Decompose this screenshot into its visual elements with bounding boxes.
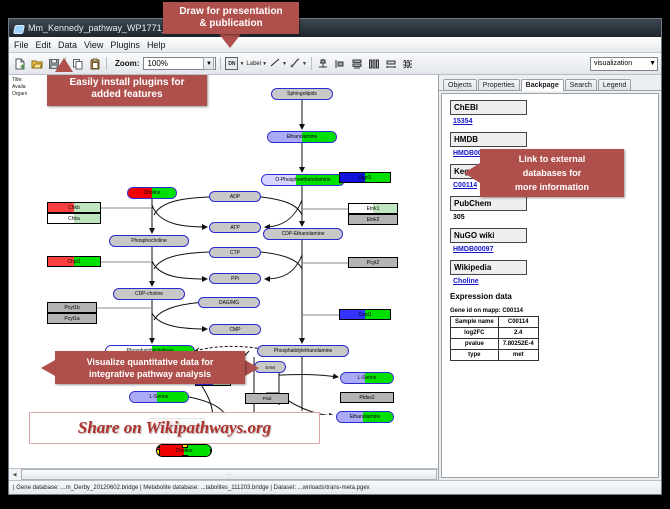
expression-table: Sample nameC00114log2FC2.4pvalue7.80252E… [450, 316, 539, 361]
selection-handle[interactable] [156, 455, 160, 457]
node-label: PPi [231, 276, 239, 282]
table-cell: log2FC [451, 328, 499, 339]
menu-edit[interactable]: Edit [36, 40, 52, 50]
pathway-canvas[interactable]: Title: Availa Organi [9, 75, 438, 468]
section-header-pubchem: PubChem [450, 196, 527, 211]
callout-plugins-line2: added features [91, 89, 162, 101]
menu-plugins[interactable]: Plugins [110, 40, 140, 50]
metabolite-node[interactable]: PPi [209, 273, 261, 284]
chevron-down-icon[interactable]: ▼ [239, 61, 244, 67]
metabolite-node[interactable]: CTP [209, 247, 261, 258]
callout-visualize: Visualize quantitative data for integrat… [55, 351, 245, 384]
visualization-combo[interactable]: visualization ▼ [590, 57, 658, 71]
label-tool[interactable]: Label ▼ [246, 61, 267, 67]
callout-links-line1: Link to external [519, 152, 586, 166]
node-label: Chka [68, 216, 80, 222]
gene-id-label: Gene id on mapp: C00114 [450, 308, 658, 314]
callout-visualize-line2: integrative pathway analysis [89, 368, 211, 380]
metabolite-node[interactable]: Phosphocholine [109, 235, 189, 247]
tab-legend[interactable]: Legend [598, 79, 631, 90]
zoom-label: Zoom: [115, 59, 139, 68]
chevron-down-icon[interactable]: ▼ [302, 61, 307, 67]
section-header-hmdb: HMDB [450, 132, 527, 147]
share-banner-text: Share on Wikipathways.org [78, 418, 271, 438]
selection-handle[interactable] [182, 444, 188, 448]
stack-vertical-icon[interactable] [350, 56, 365, 71]
share-banner: Share on Wikipathways.org [29, 412, 320, 444]
node-label: Ptdss2 [359, 395, 374, 401]
callout-visualize-tail-left [41, 360, 55, 376]
node-label: Ethanolamine [287, 134, 318, 140]
distribute-icon[interactable] [367, 56, 382, 71]
open-file-icon[interactable] [29, 56, 44, 71]
metabolite-node[interactable]: L-Serine [340, 372, 394, 384]
side-panel-tabs: Objects Properties Backpage Search Legen… [439, 75, 661, 91]
metabolite-node[interactable]: Ethanolamine [336, 411, 394, 423]
paste-icon[interactable] [87, 56, 102, 71]
node-label: L-Serine [358, 375, 377, 381]
tab-properties[interactable]: Properties [478, 79, 520, 90]
node-label: Sphingolipids [287, 91, 317, 97]
table-cell: C00114 [498, 317, 538, 328]
tool-bar: Zoom: 100% ▼ DN ▼ Label ▼ ▼ ▼ [9, 53, 661, 75]
callout-visualize-tail-right [245, 360, 259, 376]
gene-node[interactable]: Ptdss2 [340, 392, 394, 403]
gene-node[interactable]: Pcyt2 [348, 257, 398, 268]
tab-objects[interactable]: Objects [443, 79, 477, 90]
gene-node[interactable]: Etnk2 [348, 214, 398, 225]
callout-plugins: Easily install plugins for added feature… [47, 75, 207, 106]
chevron-down-icon[interactable]: ▼ [262, 61, 267, 67]
callout-links: Link to external databases for more info… [480, 149, 624, 197]
metabolite-node[interactable]: Choline [156, 444, 212, 457]
metabolite-node[interactable]: O-Phosphoethanolamine [261, 174, 345, 186]
app-icon [13, 23, 24, 34]
table-cell: met [498, 350, 538, 361]
selection-handle[interactable] [156, 449, 160, 455]
section-header-chebi: ChEBI [450, 100, 527, 115]
selection-handle[interactable] [210, 444, 212, 448]
node-label: Cept1 [358, 312, 371, 318]
node-label: Etnk2 [367, 217, 380, 223]
link-chebi[interactable]: 15354 [453, 118, 658, 125]
section-header-wikipedia: Wikipedia [450, 260, 527, 275]
node-label: CTP [230, 250, 240, 256]
node-label: CDP-choline [135, 291, 163, 297]
metabolite-node[interactable]: ADP [209, 191, 261, 202]
metabolite-node[interactable]: CDP-choline [113, 288, 185, 300]
section-header-nugo: NuGO wiki [450, 228, 527, 243]
link-nugo[interactable]: HMDB00097 [453, 246, 658, 253]
metabolite-node[interactable]: CMP [209, 324, 261, 335]
menu-bar: File Edit Data View Plugins Help [9, 37, 661, 53]
gene-node[interactable]: Pcyt1b [47, 302, 97, 313]
group-icon[interactable] [401, 56, 416, 71]
gene-node[interactable]: Cept1 [339, 309, 391, 320]
datanode-icon: DN [225, 57, 238, 70]
table-row: typemet [451, 350, 539, 361]
metabolite-node[interactable]: Ethanolamine [267, 131, 337, 143]
callout-plugins-tail [55, 58, 73, 72]
node-label: Pcyt1b [64, 305, 79, 311]
visualization-value: visualization [594, 60, 632, 67]
node-label: Pcyt2 [367, 260, 380, 266]
chevron-down-icon[interactable]: ▼ [203, 57, 214, 70]
gene-node[interactable]: Pcyt1a [47, 313, 97, 324]
toolbar-separator-3 [220, 57, 221, 70]
menu-file[interactable]: File [14, 40, 29, 50]
expression-data-title: Expression data [450, 292, 658, 301]
datanode-tool[interactable]: DN ▼ [225, 57, 244, 70]
table-row: pvalue7.80252E-4 [451, 339, 539, 350]
metabolite-node[interactable]: Sphingolipids [271, 88, 333, 100]
tab-backpage[interactable]: Backpage [521, 79, 564, 91]
selection-handle[interactable] [210, 449, 212, 455]
metabolite-node[interactable]: L-Serine [129, 391, 189, 403]
node-label: Sgpl1 [359, 175, 372, 181]
metabolite-node[interactable]: ATP [209, 222, 261, 233]
menu-help[interactable]: Help [147, 40, 166, 50]
metabolite-node[interactable]: Phosphatidylethanolamine [257, 345, 349, 357]
metabolite-node[interactable]: CDP-Ethanolamine [263, 228, 343, 240]
status-bar: | Gene database: ...m_Derby_20120602.bri… [9, 480, 661, 494]
toolbar-separator-4 [311, 57, 312, 70]
table-cell: 7.80252E-4 [498, 339, 538, 350]
selection-handle[interactable] [156, 444, 160, 448]
callout-draw-line2: & publication [199, 18, 262, 30]
zoom-combo[interactable]: 100% ▼ [143, 57, 216, 70]
callout-draw: Draw for presentation & publication [163, 2, 299, 34]
zoom-value: 100% [147, 59, 167, 68]
table-cell: 2.4 [498, 328, 538, 339]
menu-data[interactable]: Data [58, 40, 77, 50]
chevron-down-icon[interactable]: ▼ [282, 61, 287, 67]
node-label: Ethanolamine [350, 414, 381, 420]
node-label: Pisd [263, 396, 272, 401]
node-label: Choline [144, 190, 161, 196]
canvas-hscrollbar[interactable]: ◀ ⋯ [9, 468, 438, 480]
menu-view[interactable]: View [84, 40, 103, 50]
node-label: Chpt1 [67, 259, 80, 265]
hscroll-thumb[interactable]: ⋯ [21, 469, 437, 480]
gene-node[interactable]: Etnk1 [348, 203, 398, 214]
metabolite-node[interactable]: DAG/MG [198, 297, 260, 308]
callout-draw-line1: Draw for presentation [179, 6, 282, 18]
pathway-editor-pane: Title: Availa Organi [9, 75, 439, 480]
metabolite-node[interactable]: Choline [127, 187, 177, 199]
value-pubchem: 305 [453, 214, 658, 221]
gene-node[interactable]: Chkb [47, 202, 101, 213]
node-label: L-Serine [150, 394, 169, 400]
node-label: ATP [230, 225, 239, 231]
side-panel: Objects Properties Backpage Search Legen… [439, 75, 661, 480]
node-label: Etnk1 [367, 206, 380, 212]
table-cell: Sample name [451, 317, 499, 328]
tab-search[interactable]: Search [565, 79, 597, 90]
node-label: Phosphocholine [131, 238, 167, 244]
node-label: ADP [230, 194, 240, 200]
gene-node[interactable]: Chka [47, 213, 101, 224]
node-label: Pcyt1a [64, 316, 79, 322]
node-label: DAG/MG [219, 300, 239, 306]
title-bar: Mm_Kennedy_pathway_WP1771_45176.gpml [9, 19, 661, 37]
label-tool-text: Label [246, 61, 261, 67]
pathvisio-window: Mm_Kennedy_pathway_WP1771_45176.gpml Fil… [8, 18, 662, 495]
node-label: CMP [229, 327, 240, 333]
new-file-icon[interactable] [12, 56, 27, 71]
align-left-icon[interactable] [333, 56, 348, 71]
callout-visualize-line1: Visualize quantitative data for [87, 356, 214, 368]
align-top-icon[interactable] [316, 56, 331, 71]
table-cell: pvalue [451, 339, 499, 350]
line-icon [269, 55, 281, 73]
callout-plugins-line1: Easily install plugins for [69, 77, 184, 89]
main-split: Title: Availa Organi [9, 75, 661, 480]
link-wikipedia[interactable]: Choline [453, 278, 658, 285]
gene-node[interactable]: Chpt1 [47, 256, 101, 267]
node-label: CDP-Ethanolamine [282, 231, 325, 237]
interaction-tool[interactable]: ▼ [289, 55, 307, 73]
selection-handle[interactable] [182, 455, 188, 457]
chevron-down-icon[interactable]: ▼ [649, 60, 656, 67]
node-label: Choline [176, 448, 193, 454]
node-label: Chkb [68, 205, 80, 211]
callout-links-tail [464, 163, 480, 183]
callout-links-line3: more information [515, 180, 589, 194]
table-row: Sample nameC00114 [451, 317, 539, 328]
gene-node[interactable]: Pisd [245, 393, 289, 404]
callout-links-line2: databases for [523, 166, 582, 180]
gene-node[interactable]: Sgpl1 [339, 172, 391, 183]
backpage-content: ChEBI 15354 HMDB HMDB00097 Kegg Compound… [441, 93, 659, 478]
interaction-icon [289, 55, 301, 73]
selection-handle[interactable] [210, 455, 212, 457]
callout-draw-tail [219, 34, 241, 48]
line-tool[interactable]: ▼ [269, 55, 287, 73]
node-label: Phosphatidylethanolamine [274, 348, 333, 354]
node-label: SAM [265, 365, 275, 370]
node-label: O-Phosphoethanolamine [275, 177, 330, 183]
toolbar-separator-2 [106, 57, 107, 70]
table-row: log2FC2.4 [451, 328, 539, 339]
common-width-icon[interactable] [384, 56, 399, 71]
scroll-left-icon[interactable]: ◀ [9, 469, 20, 480]
table-cell: type [451, 350, 499, 361]
status-text: | Gene database: ...m_Derby_20120602.bri… [13, 485, 370, 491]
